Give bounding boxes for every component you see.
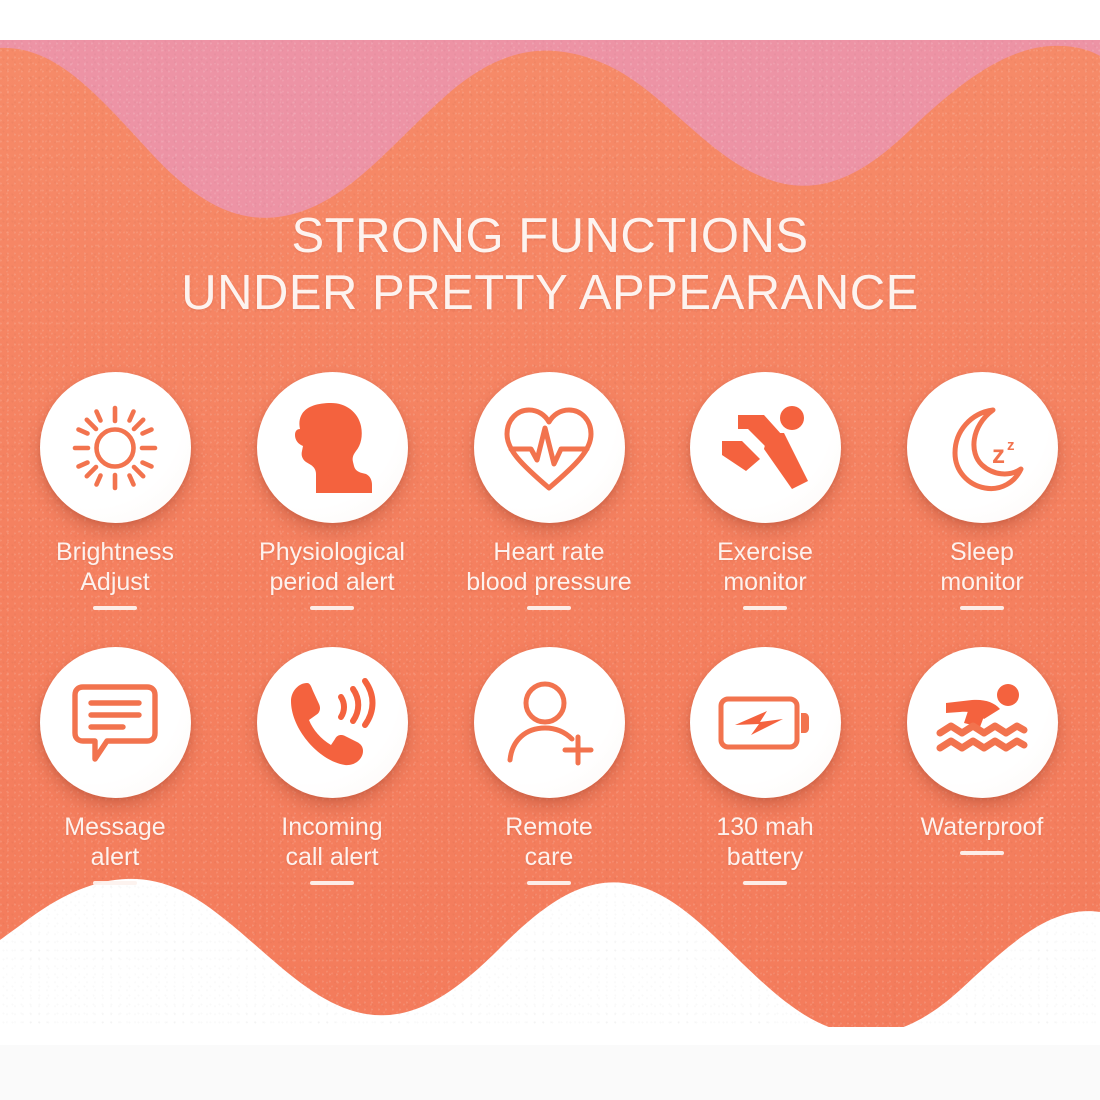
icon-bubble: [40, 647, 191, 798]
feature-row-2: Message alert Incoming call alert: [0, 647, 1100, 897]
top-white-band: [0, 0, 1100, 40]
icon-bubble: [474, 372, 625, 523]
label-underline: [527, 606, 571, 610]
headline: STRONG FUNCTIONS UNDER PRETTY APPEARANCE: [0, 208, 1100, 322]
sun-brightness-icon: [67, 400, 163, 496]
phone-ring-icon: [285, 677, 379, 769]
feature-label: Message alert: [15, 812, 215, 872]
label-underline: [310, 606, 354, 610]
label-underline: [743, 606, 787, 610]
label-underline: [93, 881, 137, 885]
label-underline: [743, 881, 787, 885]
infographic-stage: STRONG FUNCTIONS UNDER PRETTY APPEARANCE: [0, 0, 1100, 1100]
feature-row-1: Brightness Adjust Physiological period a…: [0, 372, 1100, 622]
feature-label: Remote care: [449, 812, 649, 872]
feature-physiological-period-alert[interactable]: Physiological period alert: [232, 372, 432, 610]
feature-label: Heart rate blood pressure: [449, 537, 649, 597]
feature-battery-capacity[interactable]: 130 mah battery: [665, 647, 865, 885]
feature-message-alert[interactable]: Message alert: [15, 647, 215, 885]
svg-text:z: z: [992, 439, 1005, 469]
icon-bubble: z z: [907, 372, 1058, 523]
running-person-icon: [718, 405, 812, 491]
moon-sleep-icon: z z: [935, 401, 1029, 495]
bottom-white-band: [0, 1027, 1100, 1045]
label-underline: [960, 851, 1004, 855]
headline-line-2: UNDER PRETTY APPEARANCE: [0, 265, 1100, 322]
icon-bubble: [40, 372, 191, 523]
icon-bubble: [690, 372, 841, 523]
icon-bubble: [257, 647, 408, 798]
label-underline: [960, 606, 1004, 610]
feature-brightness-adjust[interactable]: Brightness Adjust: [15, 372, 215, 610]
label-underline: [310, 881, 354, 885]
person-plus-icon: [502, 678, 596, 768]
svg-text:z: z: [1007, 437, 1015, 454]
battery-bolt-icon: [717, 691, 813, 755]
icon-bubble: [257, 372, 408, 523]
feature-exercise-monitor[interactable]: Exercise monitor: [665, 372, 865, 610]
headline-line-1: STRONG FUNCTIONS: [291, 209, 808, 263]
bottom-grey-band: [0, 1045, 1100, 1100]
feature-label: Incoming call alert: [232, 812, 432, 872]
label-underline: [527, 881, 571, 885]
feature-sleep-monitor[interactable]: z z Sleep monitor: [882, 372, 1082, 610]
icon-bubble: [690, 647, 841, 798]
icon-bubble: [907, 647, 1058, 798]
swimmer-waves-icon: [934, 683, 1030, 763]
feature-label: 130 mah battery: [665, 812, 865, 872]
feature-heart-rate-blood-pressure[interactable]: Heart rate blood pressure: [449, 372, 649, 610]
feature-label: Exercise monitor: [665, 537, 865, 597]
feature-label: Sleep monitor: [882, 537, 1082, 597]
icon-bubble: [474, 647, 625, 798]
message-bubble-icon: [69, 679, 161, 767]
feature-label: Waterproof: [882, 812, 1082, 842]
feature-waterproof[interactable]: Waterproof: [882, 647, 1082, 855]
feature-remote-care[interactable]: Remote care: [449, 647, 649, 885]
label-underline: [93, 606, 137, 610]
feature-label: Physiological period alert: [232, 537, 432, 597]
woman-silhouette-icon: [286, 400, 378, 496]
feature-label: Brightness Adjust: [15, 537, 215, 597]
feature-incoming-call-alert[interactable]: Incoming call alert: [232, 647, 432, 885]
heart-pulse-icon: [501, 402, 597, 494]
